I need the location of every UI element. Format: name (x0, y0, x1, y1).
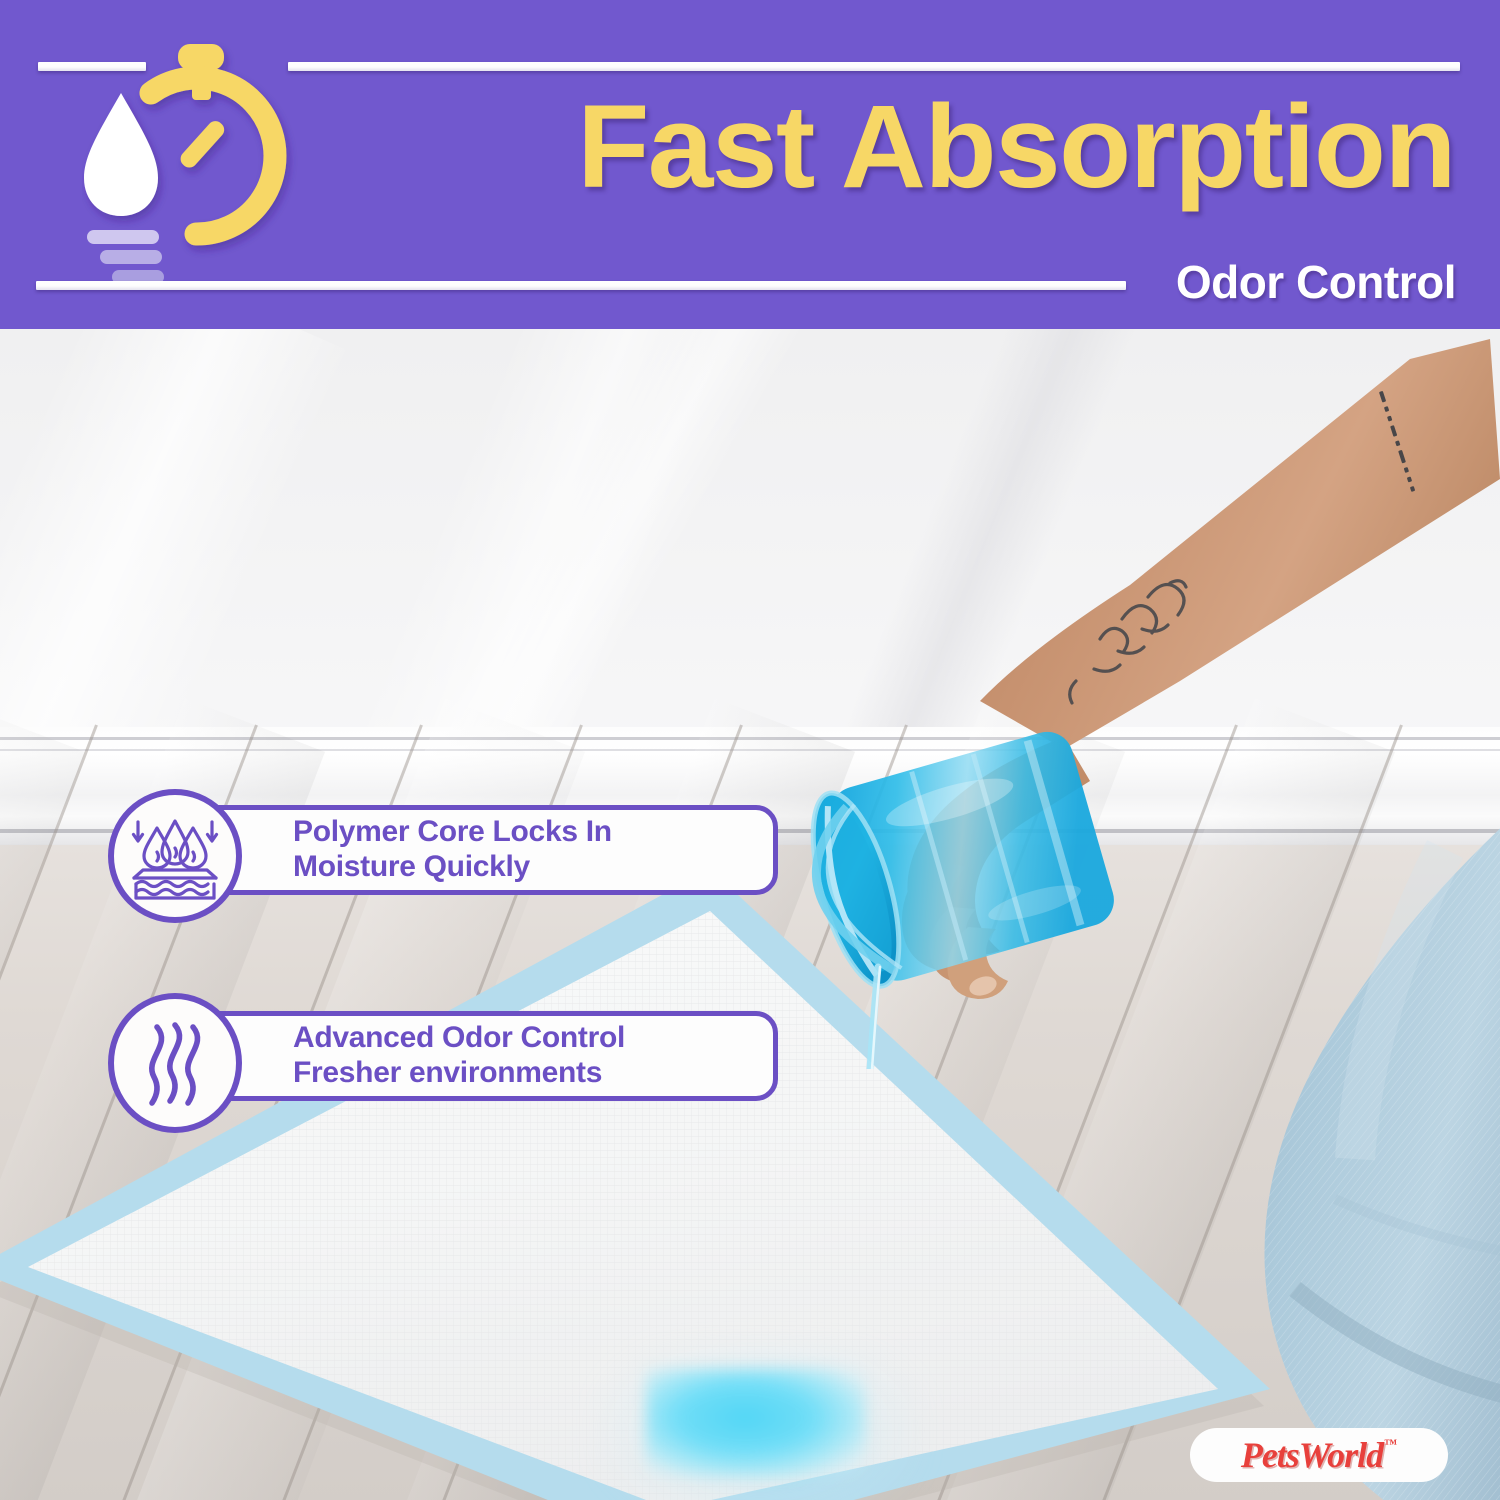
header-rule-bottom (36, 281, 1126, 290)
feature-badge-pill: Advanced Odor Control Fresher environmen… (192, 1011, 778, 1101)
product-feature-image: Fast Absorption Odor Control (0, 0, 1500, 1500)
feature-badge-line-2: Moisture Quickly (293, 850, 759, 885)
brand-logo: PetsWorld ™ (1190, 1428, 1448, 1482)
jeans-knee (1215, 729, 1500, 1500)
feature-badge-line-2: Fresher environments (293, 1056, 759, 1091)
odor-waves-icon (108, 993, 242, 1133)
feature-badge-pill: Polymer Core Locks In Moisture Quickly (192, 805, 778, 895)
feature-badge-line-1: Advanced Odor Control (293, 1021, 759, 1056)
trademark-symbol: ™ (1384, 1436, 1397, 1452)
header-banner: Fast Absorption Odor Control (0, 0, 1500, 329)
page-title: Fast Absorption (380, 88, 1455, 206)
glass-pitcher (770, 649, 1170, 1069)
stopwatch-droplet-icon (82, 38, 332, 298)
droplets-absorb-layers-icon (108, 789, 242, 923)
product-photo: Polymer Core Locks In Moisture Quickly (0, 329, 1500, 1500)
brand-logo-text: PetsWorld (1241, 1437, 1383, 1473)
header-subtitle: Odor Control (1176, 259, 1456, 305)
absorbed-liquid-stain (646, 1369, 866, 1477)
feature-badge-line-1: Polymer Core Locks In (293, 815, 759, 850)
header-rule-top-right (288, 62, 1460, 71)
